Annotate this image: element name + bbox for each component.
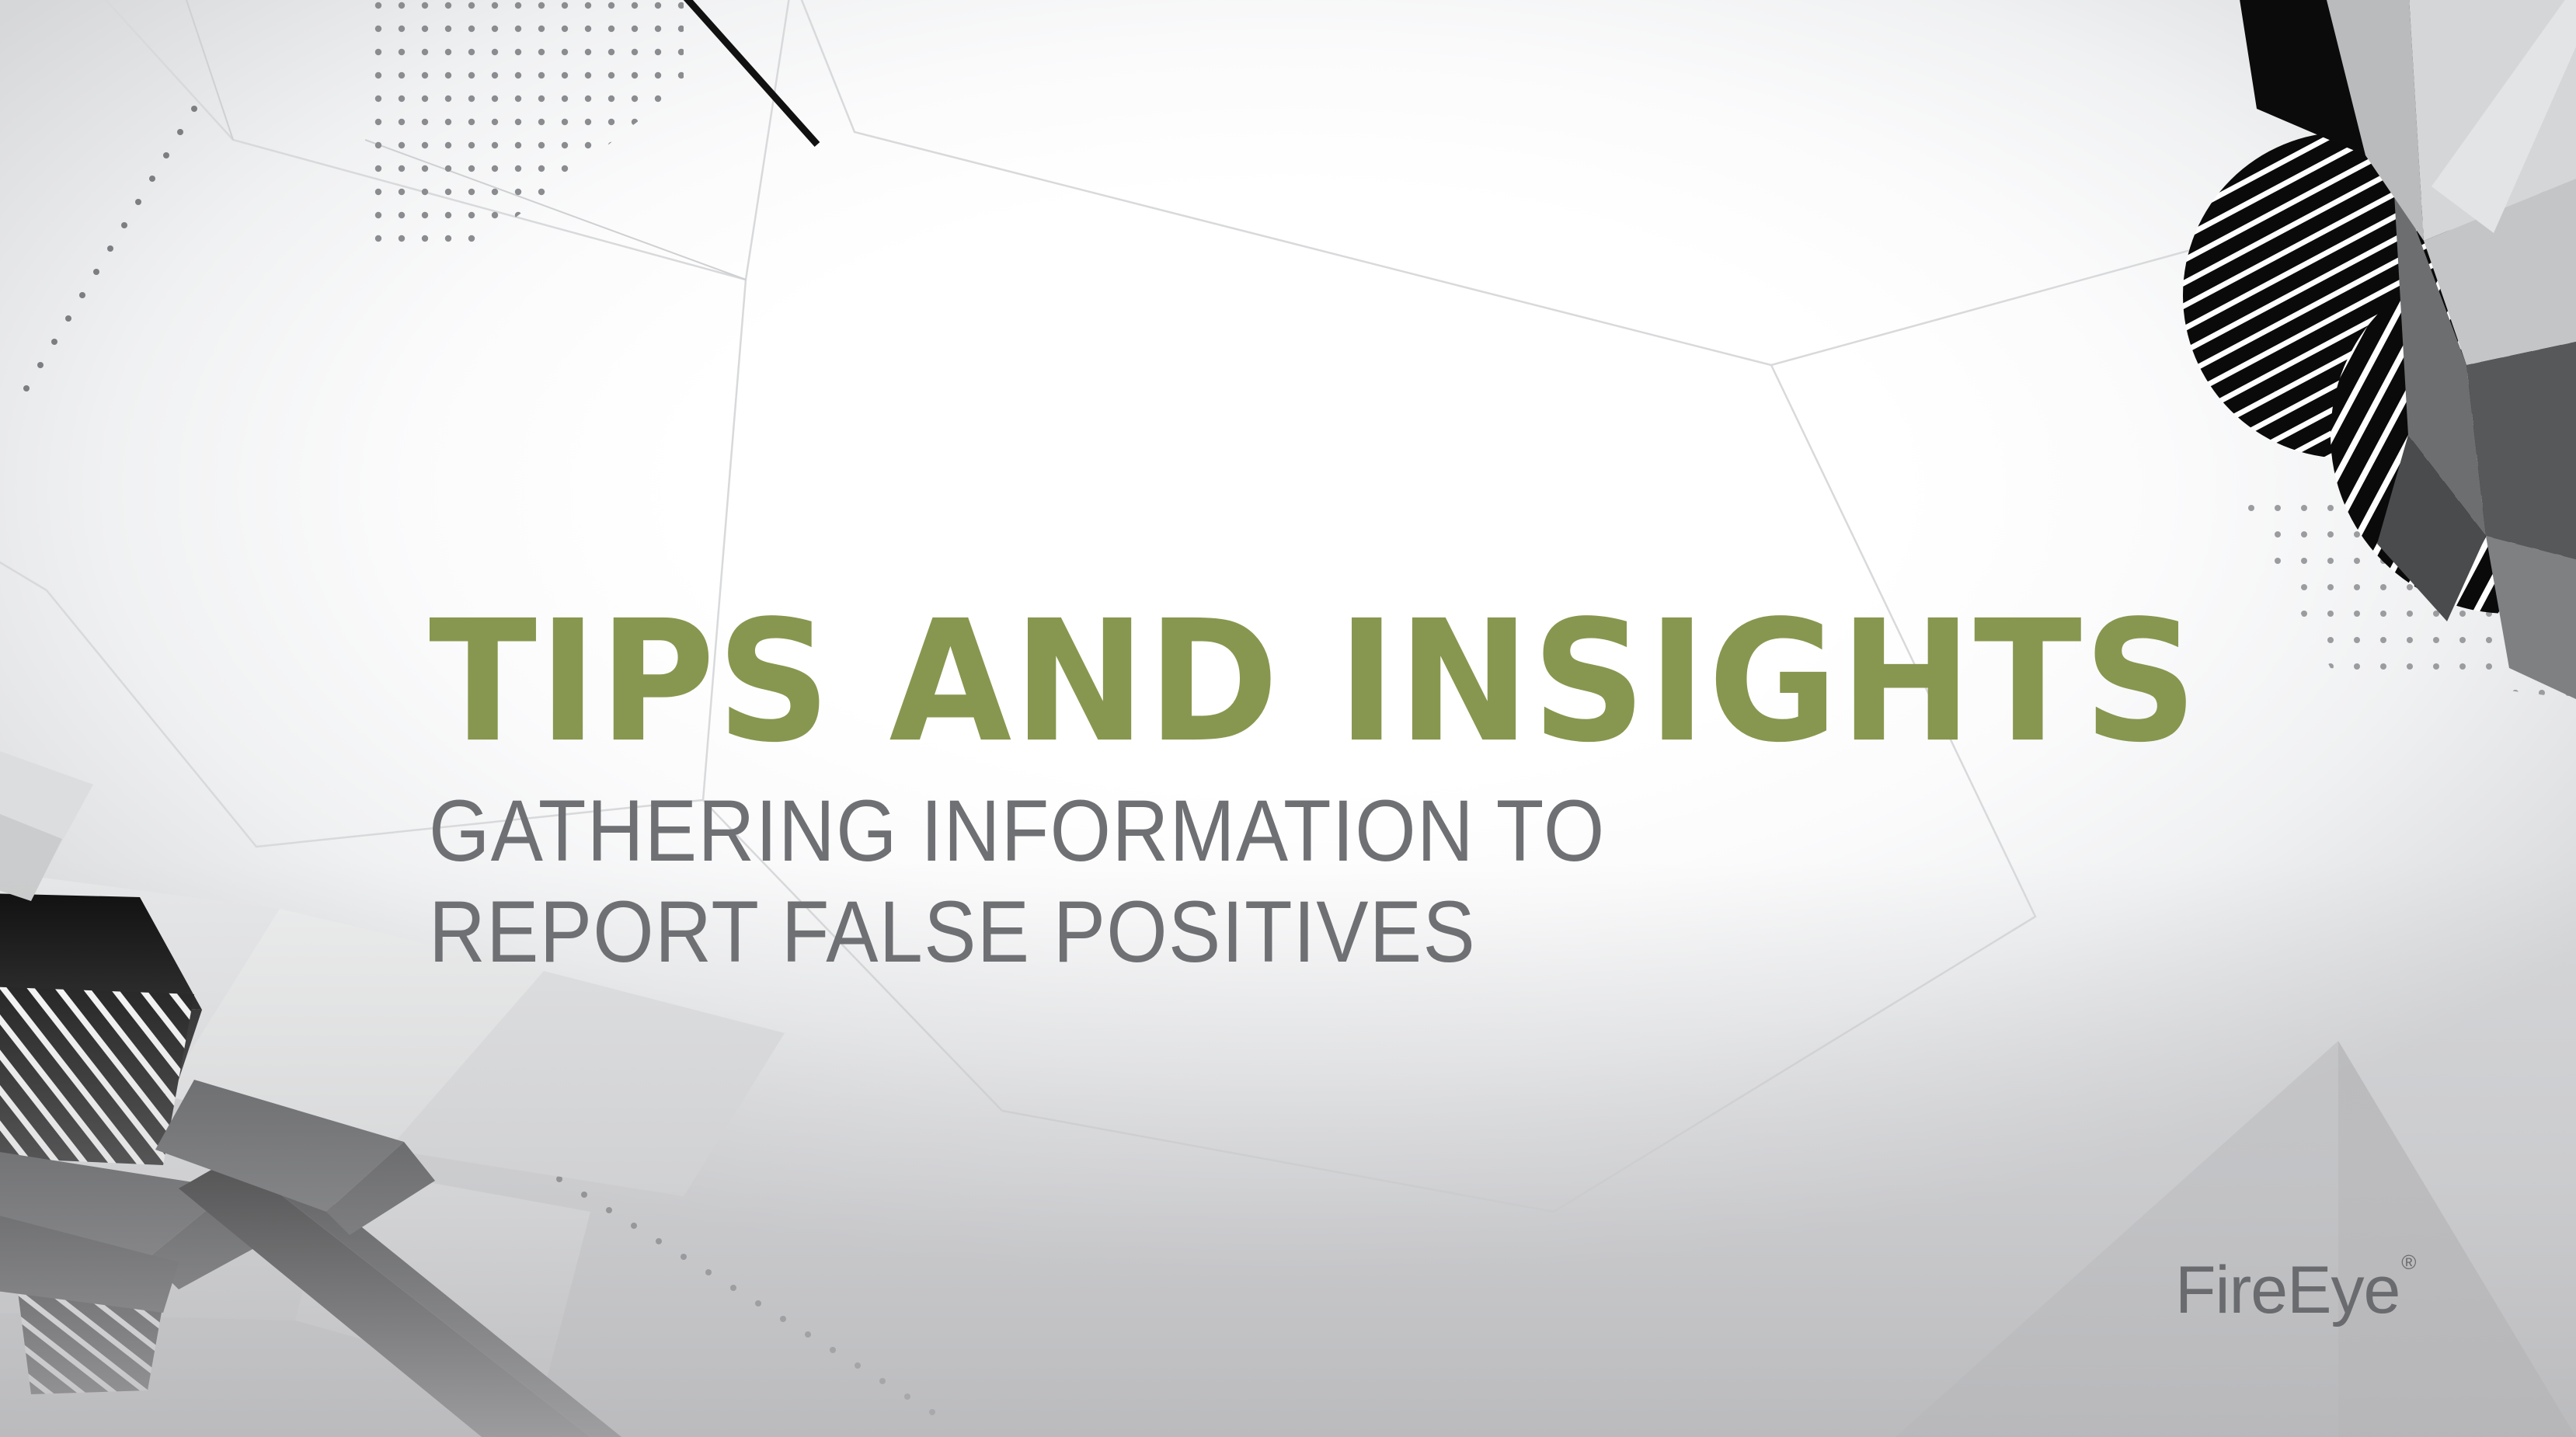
- slide-text-block: TIPS AND INSIGHTS GATHERING INFORMATION …: [429, 602, 2293, 983]
- presentation-slide: TIPS AND INSIGHTS GATHERING INFORMATION …: [0, 0, 2576, 1437]
- slide-subtitle: GATHERING INFORMATION TO REPORT FALSE PO…: [429, 748, 2107, 983]
- slide-title: TIPS AND INSIGHTS: [429, 602, 2368, 763]
- fireeye-wordmark: FireEye: [2175, 1253, 2400, 1327]
- registered-trademark-icon: ®: [2401, 1251, 2415, 1274]
- fireeye-logo: FireEye®: [2175, 1252, 2414, 1329]
